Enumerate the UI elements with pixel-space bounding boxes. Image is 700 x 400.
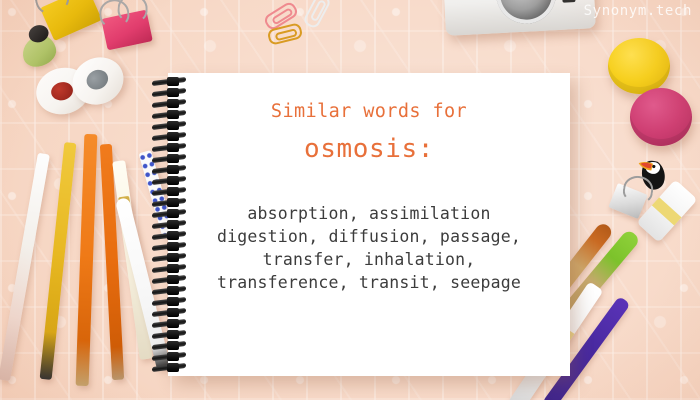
site-watermark: Synonym.tech [584,3,692,19]
synonym-line: transference, transit, seepage [217,271,521,294]
desk-scene: Similar words for osmosis: absorption, a… [0,0,700,400]
synonym-line: digestion, diffusion, passage, [217,225,521,248]
page-content: Similar words for osmosis: absorption, a… [168,73,570,376]
synonym-line: transfer, inhalation, [217,248,521,271]
synonym-line: absorption, assimilation [217,202,521,225]
headword: osmosis: [304,134,434,164]
spiral-notebook: Similar words for osmosis: absorption, a… [152,73,570,376]
page-title: Similar words for [271,101,467,122]
synonym-list: absorption, assimilation digestion, diff… [217,202,521,294]
